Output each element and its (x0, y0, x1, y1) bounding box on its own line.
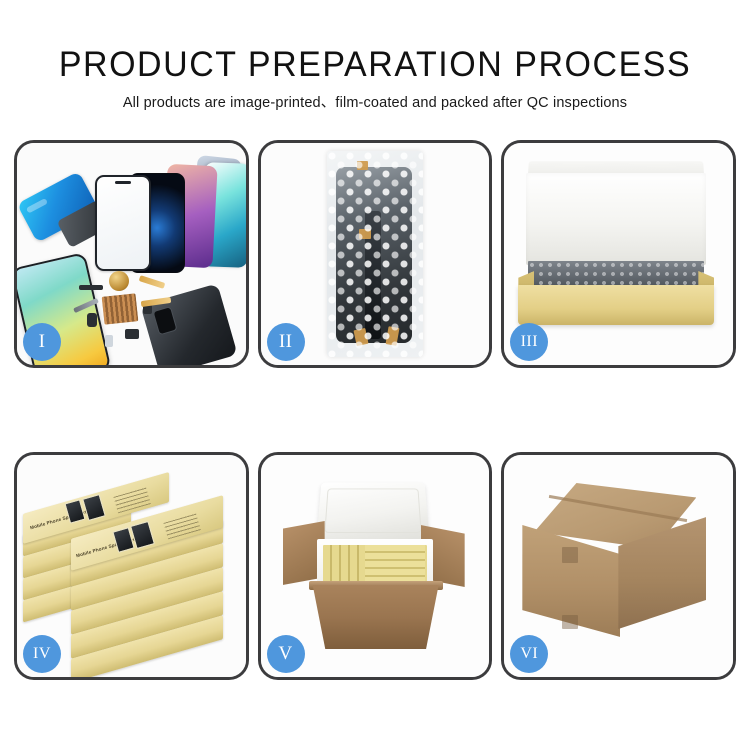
carton-tab (562, 547, 578, 563)
carton-tab (562, 615, 578, 629)
rear-housing (140, 283, 237, 365)
step-badge-5: V (267, 635, 305, 673)
page-title: PRODUCT PREPARATION PROCESS (11, 0, 739, 82)
product-preparation-infographic: PRODUCT PREPARATION PROCESS All products… (0, 0, 750, 750)
step-badge-1: I (23, 323, 61, 361)
process-step-6: VI (501, 452, 736, 680)
header: PRODUCT PREPARATION PROCESS All products… (0, 0, 750, 111)
component-bit (105, 335, 113, 347)
component-bit (125, 329, 139, 339)
process-step-4: Mobile Phone Spare Parts Mobile Phone Sp… (14, 452, 249, 680)
step-badge-2: II (267, 323, 305, 361)
step-badge-4: IV (23, 635, 61, 673)
process-step-grid: I II (14, 140, 736, 680)
screen-protector (95, 175, 151, 271)
box-front-panel (518, 285, 714, 325)
process-step-3: III (501, 140, 736, 368)
process-step-2: II (258, 140, 493, 368)
bubble-texture (327, 151, 423, 357)
component-bit (79, 285, 103, 290)
bubble-wrap-bag (327, 151, 423, 357)
process-step-1: I (14, 140, 249, 368)
packed-boxes (365, 545, 425, 583)
carton-body (313, 585, 439, 649)
process-step-5: V (258, 452, 493, 680)
foam-lid (316, 482, 429, 540)
chip-array (102, 293, 139, 324)
flex-cable (139, 275, 166, 289)
component-bit (87, 313, 97, 327)
speaker-module (109, 271, 129, 291)
white-foam-sheet (526, 173, 706, 265)
page-subtitle: All products are image-printed、film-coat… (0, 82, 750, 111)
